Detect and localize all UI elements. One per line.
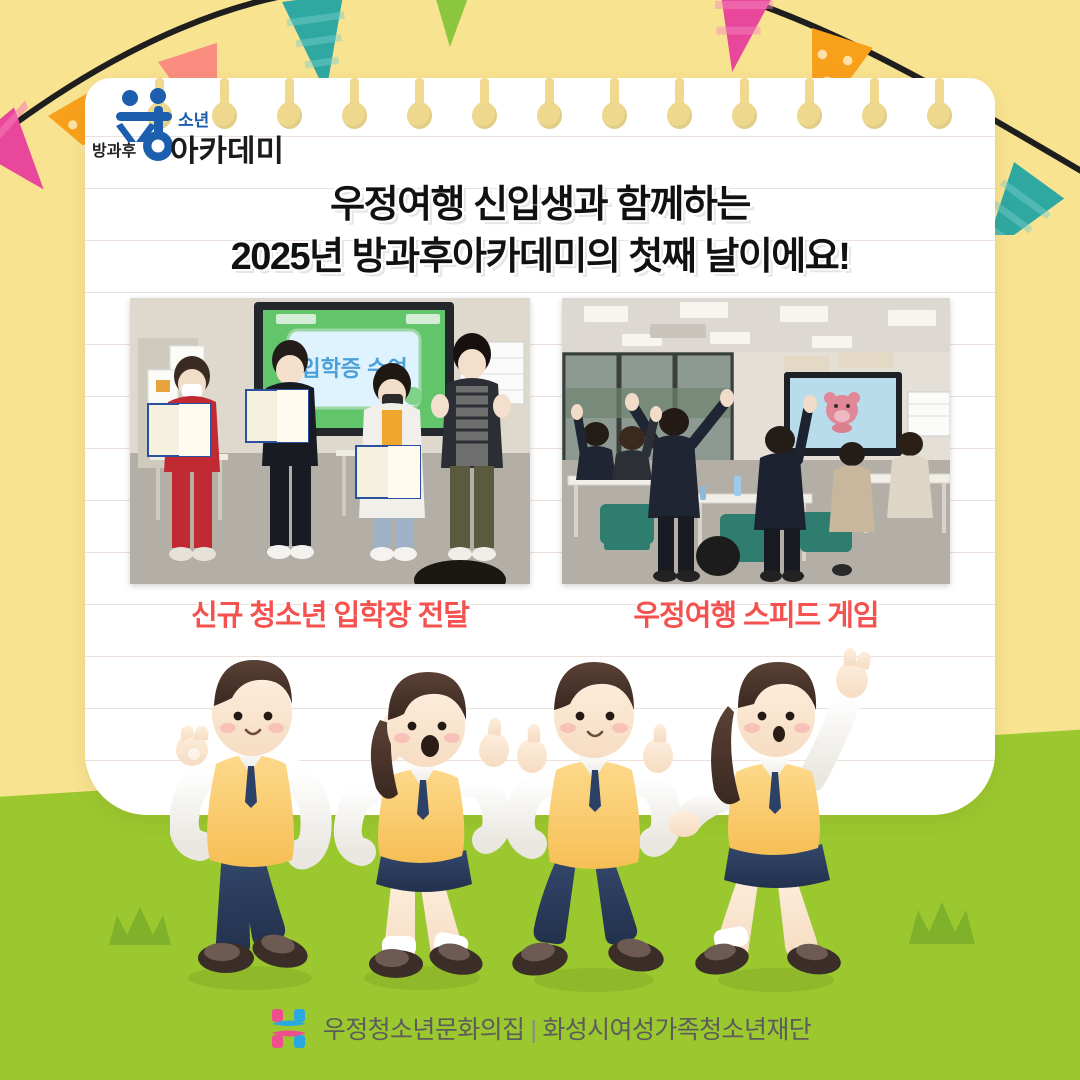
- binder-ring: [935, 78, 944, 108]
- footer-organizations: 우정청소년문화의집|화성시여성가족청소년재단: [323, 1010, 811, 1046]
- title-line-2: 2025년 방과후아카데미의 첫째 날이에요!: [85, 234, 995, 280]
- footer-separator: |: [524, 1016, 542, 1044]
- brand-logo: 소년 방과후 아카데미: [92, 84, 292, 164]
- caption-certificate: 신규 청소년 입학장 전달: [130, 592, 530, 634]
- footer-org-1: 우정청소년문화의집: [323, 1016, 525, 1044]
- brand-main-label: 아카데미: [170, 134, 284, 164]
- student-girl-handup: [668, 648, 871, 992]
- binder-ring: [740, 78, 749, 108]
- footer-bar: 우정청소년문화의집|화성시여성가족청소년재단: [0, 1000, 1080, 1056]
- brand-small-label: 소년: [178, 111, 209, 130]
- binder-ring: [870, 78, 879, 108]
- photo-speed-game: [562, 298, 950, 584]
- title-line-1: 우정여행 신입생과 함께하는: [85, 182, 995, 228]
- binder-ring: [480, 78, 489, 108]
- footer-org-2: 화성시여성가족청소년재단: [542, 1016, 811, 1044]
- binder-ring: [805, 78, 814, 108]
- student-boy-thumbsup: [510, 662, 673, 992]
- binder-ring: [350, 78, 359, 108]
- binder-ring: [415, 78, 424, 108]
- binder-ring: [675, 78, 684, 108]
- caption-speed-game: 우정여행 스피드 게임: [562, 592, 950, 634]
- page-title: 우정여행 신입생과 함께하는 2025년 방과후아카데미의 첫째 날이에요!: [85, 182, 995, 281]
- student-boy-waving: [176, 660, 316, 990]
- binder-ring: [545, 78, 554, 108]
- photo-certificate-ceremony: 입학증 수여: [130, 298, 530, 584]
- student-girl-cheering: [348, 672, 509, 990]
- binder-ring: [610, 78, 619, 108]
- brand-prefix-label: 방과후: [92, 141, 136, 160]
- hwaseong-foundation-h-logo: [269, 1007, 309, 1049]
- photo-row: 입학증 수여: [85, 298, 995, 584]
- cartoon-students-group: [170, 642, 930, 1002]
- photo-captions: 신규 청소년 입학장 전달 우정여행 스피드 게임: [85, 592, 995, 640]
- poster-canvas: 소년 방과후 아카데미 우정여행 신입생과 함께하는 2025년 방과후아카데미…: [0, 0, 1080, 1080]
